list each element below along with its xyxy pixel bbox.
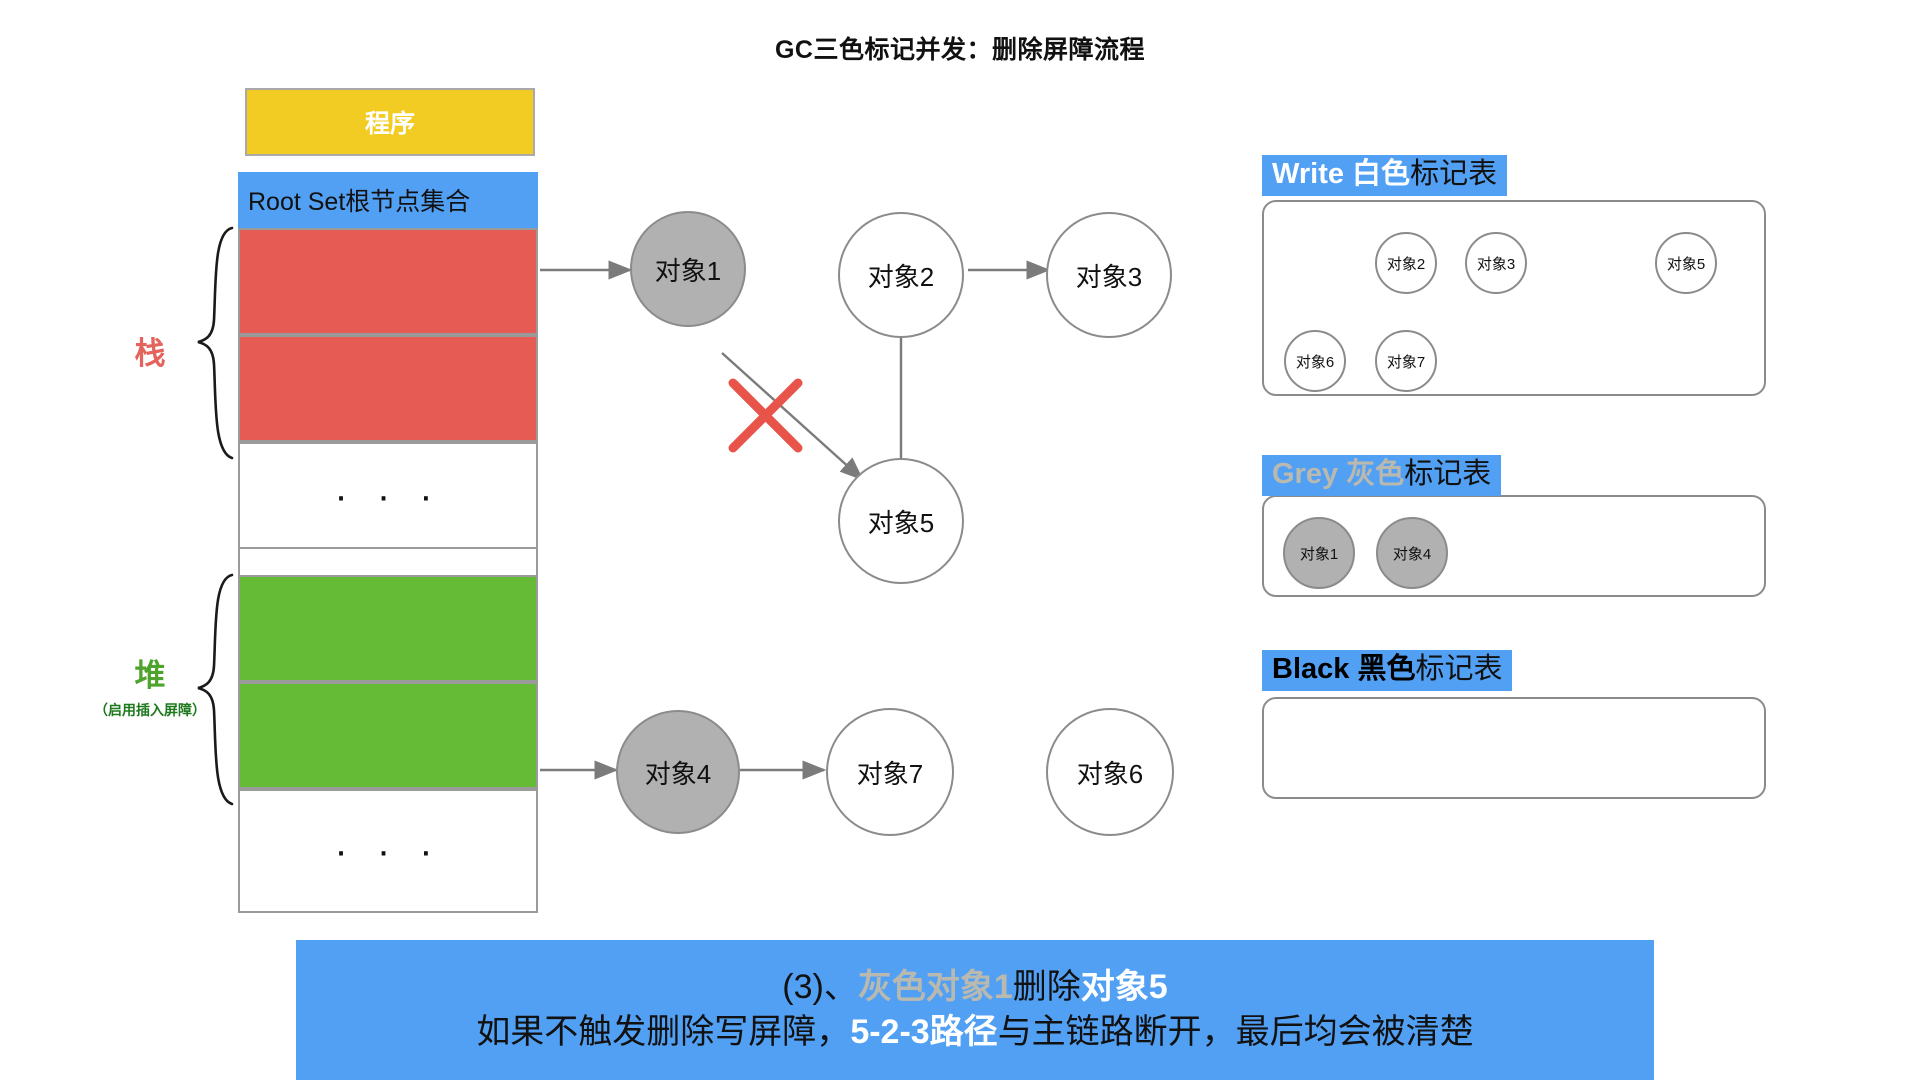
node-obj3[interactable]: 对象3	[1046, 212, 1172, 338]
node-obj1[interactable]: 对象1	[630, 211, 746, 327]
black-table-title-en: Black	[1272, 653, 1349, 685]
ellipsis-dots: · · ·	[240, 476, 536, 516]
white-table-title-cn: 白色	[1352, 158, 1410, 190]
grey-mark-table-title: Grey 灰色标记表	[1262, 455, 1501, 496]
caption-path: 5-2-3路径	[850, 1013, 997, 1051]
node-obj7[interactable]: 对象7	[826, 708, 954, 836]
caption-l2-a: 如果不触发删除写屏障，	[476, 1013, 850, 1051]
grey-table-title-rest: 标记表	[1404, 458, 1491, 490]
diagram-canvas: GC三色标记并发：删除屏障流程 程序 Root Set根节点集合 · · · ·…	[0, 0, 1920, 1080]
node-obj4[interactable]: 对象4	[616, 710, 740, 834]
black-mark-table-title: Black 黑色标记表	[1262, 650, 1512, 691]
memory-block-program: 程序	[245, 88, 535, 156]
heap-sublabel: （启用插入屏障）	[50, 700, 250, 720]
memory-block-heap-1	[238, 575, 538, 682]
ellipsis-dots-2: · · ·	[240, 831, 536, 871]
white-table-title-en: Write	[1272, 158, 1344, 190]
chip-white-obj5[interactable]: 对象5	[1655, 232, 1717, 294]
stack-label: 栈	[105, 328, 195, 373]
memory-block-stack-ellipsis: · · ·	[238, 442, 538, 549]
memory-block-heap-2	[238, 682, 538, 789]
caption-grey-obj: 灰色对象1	[858, 968, 1013, 1006]
caption-target-obj: 对象5	[1081, 968, 1168, 1006]
memory-block-stack-2	[238, 335, 538, 442]
node-obj5[interactable]: 对象5	[838, 458, 964, 584]
black-table-title-cn: 黑色	[1357, 653, 1415, 685]
chip-white-obj6[interactable]: 对象6	[1284, 330, 1346, 392]
memory-block-stack-1	[238, 228, 538, 335]
grey-table-title-en: Grey	[1272, 458, 1338, 490]
memory-gap-strip	[238, 549, 538, 575]
grey-table-title-cn: 灰色	[1346, 458, 1404, 490]
caption-step-number: (3)、	[782, 968, 858, 1006]
memory-block-rootset-label: Root Set根节点集合	[238, 182, 538, 218]
deleted-edge-x-icon	[733, 383, 798, 448]
memory-block-program-label: 程序	[247, 104, 533, 140]
edge-obj1-to-obj5	[722, 353, 862, 479]
page-title: GC三色标记并发：删除屏障流程	[0, 30, 1920, 66]
white-table-title-rest: 标记表	[1410, 158, 1497, 190]
node-obj6[interactable]: 对象6	[1046, 708, 1174, 836]
stack-brace	[198, 228, 232, 458]
black-mark-table[interactable]	[1262, 697, 1766, 799]
caption-action: 删除	[1013, 968, 1081, 1006]
chip-grey-obj4[interactable]: 对象4	[1376, 517, 1448, 589]
white-mark-table-title: Write 白色标记表	[1262, 155, 1507, 196]
caption-l2-c: 与主链路断开，最后均会被清楚	[998, 1013, 1474, 1051]
memory-block-rootset: Root Set根节点集合	[238, 172, 538, 228]
caption-line-1: (3)、灰色对象1删除对象5	[296, 965, 1654, 1010]
caption-line-2: 如果不触发删除写屏障，5-2-3路径与主链路断开，最后均会被清楚	[296, 1010, 1654, 1055]
chip-grey-obj1[interactable]: 对象1	[1283, 517, 1355, 589]
heap-label: 堆	[70, 650, 230, 695]
black-table-title-rest: 标记表	[1415, 653, 1502, 685]
chip-white-obj3[interactable]: 对象3	[1465, 232, 1527, 294]
chip-white-obj7[interactable]: 对象7	[1375, 330, 1437, 392]
node-obj2[interactable]: 对象2	[838, 212, 964, 338]
memory-block-heap-ellipsis: · · ·	[238, 789, 538, 913]
chip-white-obj2[interactable]: 对象2	[1375, 232, 1437, 294]
caption-banner: (3)、灰色对象1删除对象5 如果不触发删除写屏障，5-2-3路径与主链路断开，…	[296, 940, 1654, 1080]
